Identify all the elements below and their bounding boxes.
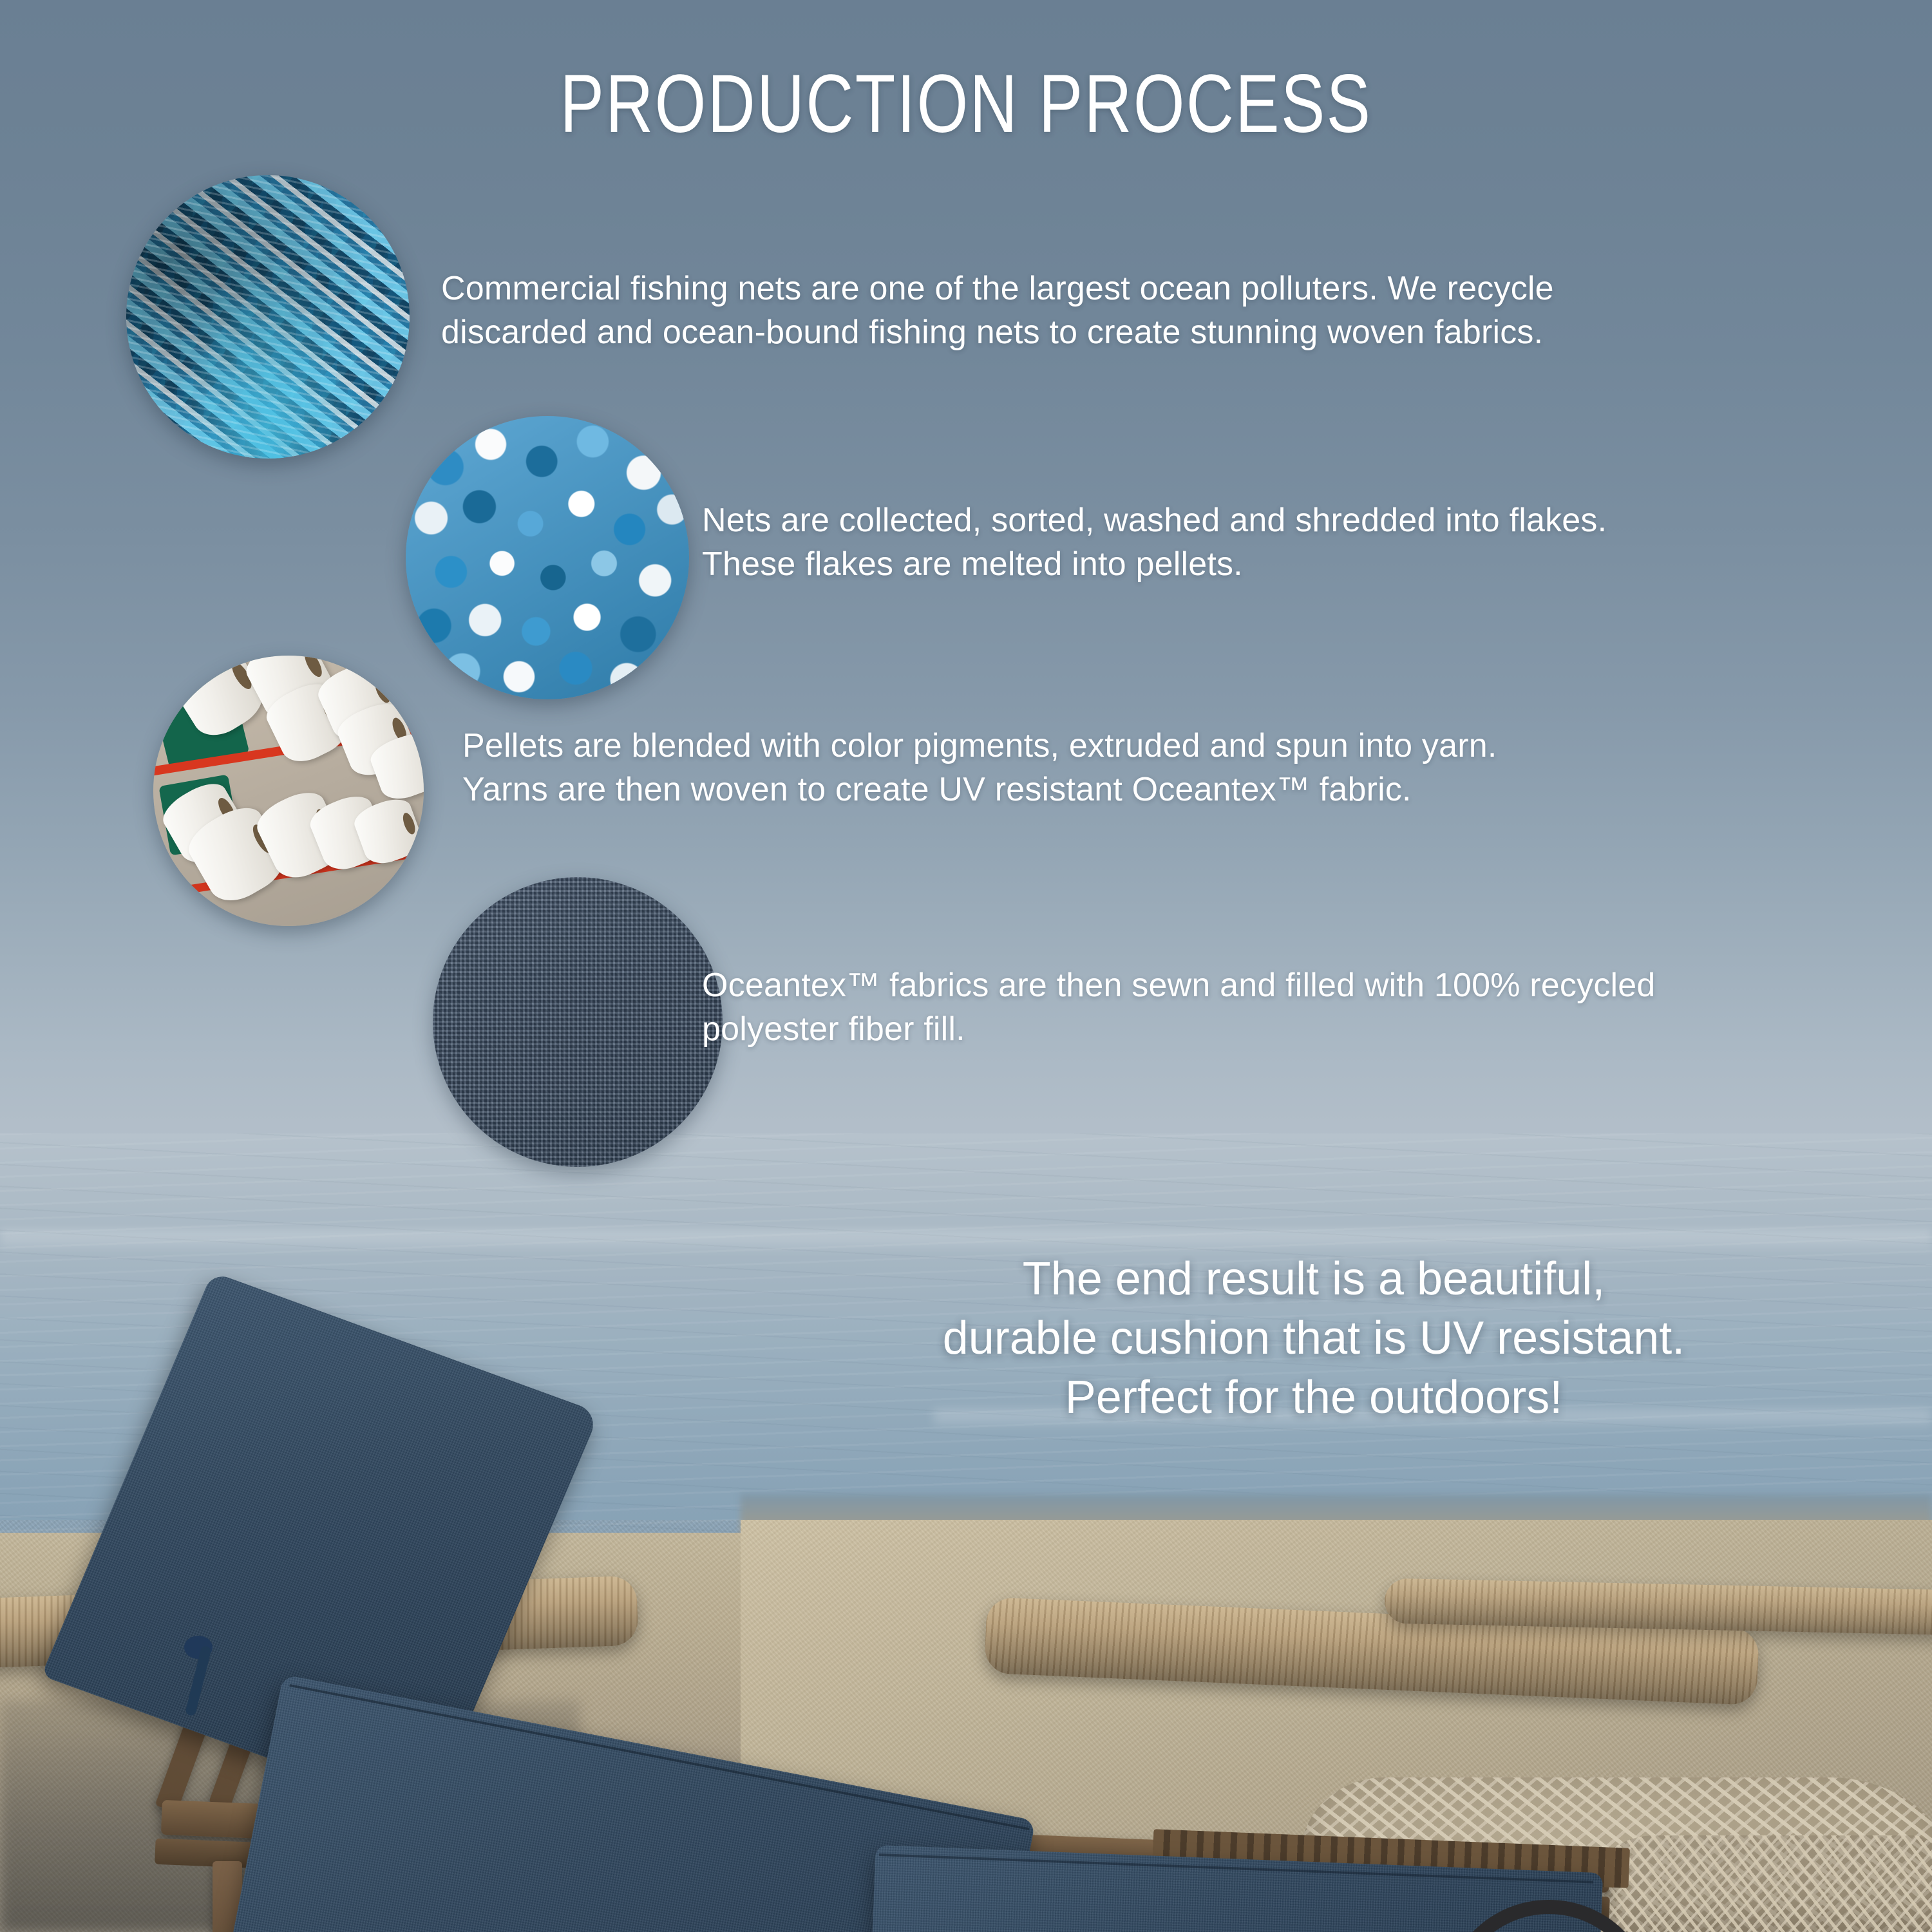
page-title: PRODUCTION PROCESS: [193, 57, 1739, 151]
step-3-text: Pellets are blended with color pigments,…: [462, 724, 1879, 811]
step-2-line-1: Nets are collected, sorted, washed and s…: [702, 499, 1900, 543]
woven-fabric-image: [433, 877, 723, 1167]
closing-line-1: The end result is a beautiful,: [760, 1249, 1868, 1309]
step-4-line-1: Oceantex™ fabrics are then sewn and fill…: [702, 964, 1919, 1008]
closing-statement: The end result is a beautiful, durable c…: [760, 1249, 1868, 1427]
yarn-spools-photo: [153, 656, 424, 926]
fishing-nets-photo: [126, 175, 410, 459]
infographic-canvas: PRODUCTION PROCESS Commercial fishing ne…: [0, 0, 1932, 1932]
step-2-line-2: These flakes are melted into pellets.: [702, 543, 1900, 587]
step-1-text: Commercial fishing nets are one of the l…: [441, 267, 1877, 354]
fishing-nets-image: [126, 175, 410, 459]
step-3-line-2: Yarns are then woven to create UV resist…: [462, 768, 1879, 812]
closing-line-2: durable cushion that is UV resistant.: [760, 1309, 1868, 1368]
woven-fabric-swatch: [433, 877, 723, 1167]
closing-line-3: Perfect for the outdoors!: [760, 1368, 1868, 1427]
plastic-pellets-image: [406, 416, 689, 699]
step-2-text: Nets are collected, sorted, washed and s…: [702, 499, 1900, 586]
plastic-pellets-photo: [406, 416, 689, 699]
step-4-line-2: polyester fiber fill.: [702, 1008, 1919, 1052]
yarn-spools-image: [153, 656, 424, 926]
fishing-net-pile-2: [1578, 1835, 1932, 1932]
step-1-line-1: Commercial fishing nets are one of the l…: [441, 267, 1877, 311]
step-3-line-1: Pellets are blended with color pigments,…: [462, 724, 1879, 768]
step-4-text: Oceantex™ fabrics are then sewn and fill…: [702, 964, 1919, 1051]
step-1-line-2: discarded and ocean-bound fishing nets t…: [441, 311, 1877, 355]
